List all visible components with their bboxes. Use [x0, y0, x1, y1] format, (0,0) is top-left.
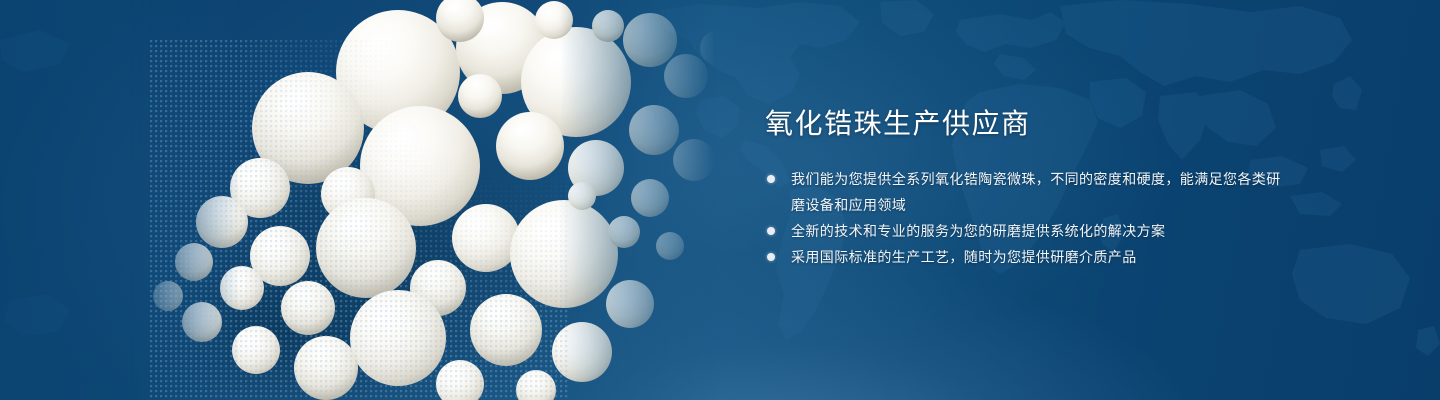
list-item: 全新的技术和专业的服务为您的研磨提供系统化的解决方案	[765, 218, 1285, 244]
filled-circle-bullet-icon	[767, 253, 775, 261]
list-item: 我们能为您提供全系列氧化锆陶瓷微珠，不同的密度和硬度，能满足您各类研磨设备和应用…	[765, 166, 1285, 218]
bullet-text: 采用国际标准的生产工艺，随时为您提供研磨介质产品	[791, 244, 1285, 270]
banner-bullet-list: 我们能为您提供全系列氧化锆陶瓷微珠，不同的密度和硬度，能满足您各类研磨设备和应用…	[765, 166, 1285, 270]
bullet-text: 全新的技术和专业的服务为您的研磨提供系统化的解决方案	[791, 218, 1285, 244]
banner-headline: 氧化锆珠生产供应商	[765, 104, 1285, 144]
hero-banner: 氧化锆珠生产供应商 我们能为您提供全系列氧化锆陶瓷微珠，不同的密度和硬度，能满足…	[0, 0, 1440, 400]
bullet-text: 我们能为您提供全系列氧化锆陶瓷微珠，不同的密度和硬度，能满足您各类研磨设备和应用…	[791, 166, 1285, 218]
filled-circle-bullet-icon	[767, 175, 775, 183]
banner-copy-block: 氧化锆珠生产供应商 我们能为您提供全系列氧化锆陶瓷微珠，不同的密度和硬度，能满足…	[765, 104, 1285, 270]
zirconia-beads-photo	[130, 0, 730, 400]
filled-circle-bullet-icon	[767, 227, 775, 235]
list-item: 采用国际标准的生产工艺，随时为您提供研磨介质产品	[765, 244, 1285, 270]
